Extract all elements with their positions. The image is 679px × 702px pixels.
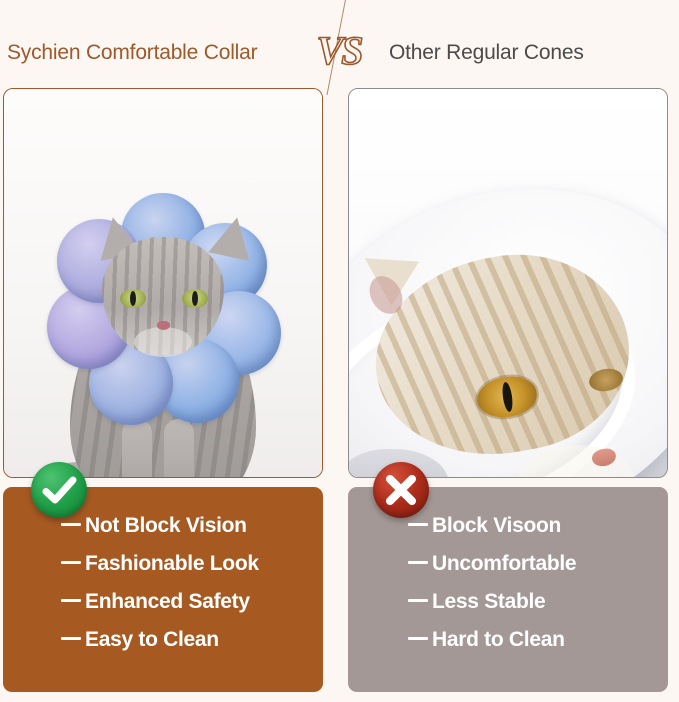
cross-circle-icon bbox=[373, 462, 429, 518]
left-feature-list: Not Block Vision Fashionable Look Enhanc… bbox=[61, 507, 259, 659]
right-product-photo-card bbox=[348, 88, 668, 478]
vs-label: VS bbox=[313, 28, 365, 74]
cat-eye-right bbox=[182, 289, 208, 308]
left-product-photo-card bbox=[3, 88, 323, 478]
left-product-title: Sychien Comfortable Collar bbox=[7, 41, 257, 65]
list-item: Fashionable Look bbox=[61, 545, 259, 583]
list-item: Uncomfortable bbox=[408, 545, 576, 583]
check-circle-icon bbox=[31, 462, 87, 518]
comparison-header: Sychien Comfortable Collar VS Other Regu… bbox=[0, 0, 679, 88]
list-item: Less Stable bbox=[408, 583, 576, 621]
dash-icon bbox=[408, 523, 428, 526]
right-feature-list: Block Visoon Uncomfortable Less Stable H… bbox=[408, 507, 576, 659]
left-product-photo bbox=[4, 89, 322, 477]
cat-leg-right bbox=[164, 419, 194, 477]
right-product-title: Other Regular Cones bbox=[389, 41, 584, 65]
list-item: Hard to Clean bbox=[408, 621, 576, 659]
feature-label: Uncomfortable bbox=[432, 552, 576, 575]
cat-eye-left bbox=[120, 289, 146, 308]
cat-muzzle bbox=[134, 327, 192, 357]
cat-nose bbox=[157, 321, 170, 330]
feature-label: Enhanced Safety bbox=[85, 590, 250, 613]
cat-ear-right bbox=[208, 213, 257, 261]
right-product-photo bbox=[349, 89, 667, 477]
dash-icon bbox=[61, 599, 81, 602]
list-item: Not Block Vision bbox=[61, 507, 259, 545]
list-item: Easy to Clean bbox=[61, 621, 259, 659]
list-item: Block Visoon bbox=[408, 507, 576, 545]
feature-label: Easy to Clean bbox=[85, 628, 219, 651]
feature-label: Not Block Vision bbox=[85, 514, 247, 537]
dash-icon bbox=[61, 561, 81, 564]
dash-icon bbox=[61, 523, 81, 526]
list-item: Enhanced Safety bbox=[61, 583, 259, 621]
dash-icon bbox=[408, 599, 428, 602]
feature-label: Hard to Clean bbox=[432, 628, 565, 651]
cat-leg-left bbox=[122, 419, 152, 477]
feature-label: Fashionable Look bbox=[85, 552, 259, 575]
dash-icon bbox=[408, 637, 428, 640]
dash-icon bbox=[61, 637, 81, 640]
dash-icon bbox=[408, 561, 428, 564]
feature-label: Less Stable bbox=[432, 590, 545, 613]
feature-label: Block Visoon bbox=[432, 514, 561, 537]
